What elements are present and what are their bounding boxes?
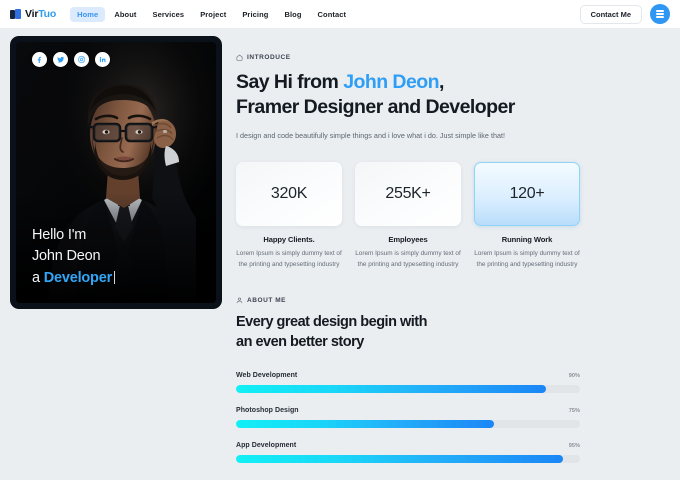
stat-value: 320K bbox=[271, 185, 307, 203]
skill-percent: 90% bbox=[569, 373, 580, 379]
skill-percent: 95% bbox=[569, 443, 580, 449]
stat-title: Employees bbox=[355, 235, 461, 244]
home-icon bbox=[236, 54, 243, 61]
skill-progress-fill bbox=[236, 420, 494, 428]
hero-role-prefix: a bbox=[32, 270, 44, 286]
about-eyebrow-label: ABOUT ME bbox=[247, 297, 286, 304]
skill-label: Photoshop Design bbox=[236, 407, 299, 414]
stat-value: 255K+ bbox=[385, 185, 430, 203]
stat-description: Lorem Ipsum is simply dummy text of the … bbox=[474, 249, 580, 270]
facebook-icon[interactable] bbox=[32, 52, 47, 67]
skill-label: App Development bbox=[236, 442, 296, 449]
stat-value-box: 120+ bbox=[474, 162, 580, 226]
skill-label: Web Development bbox=[236, 372, 297, 379]
headline-pre: Say Hi from bbox=[236, 71, 343, 93]
about-section: ABOUT ME Every great design begin withan… bbox=[236, 297, 580, 352]
brand-name-primary: Vir bbox=[25, 8, 38, 20]
hero-greeting: Hello I'm bbox=[32, 225, 115, 246]
intro-subcopy: I design and code beautifully simple thi… bbox=[236, 131, 580, 141]
about-title: Every great design begin withan even bet… bbox=[236, 313, 580, 352]
nav-link-contact[interactable]: Contact bbox=[311, 7, 354, 22]
headline-post: , bbox=[439, 71, 444, 93]
skill-progress-fill bbox=[236, 455, 563, 463]
stat-description: Lorem Ipsum is simply dummy text of the … bbox=[236, 249, 342, 270]
stat-title: Happy Clients. bbox=[236, 235, 342, 244]
linkedin-icon[interactable] bbox=[95, 52, 110, 67]
main-content-column: INTRODUCE Say Hi from John Deon,Framer D… bbox=[236, 36, 670, 480]
nav-actions: Contact Me bbox=[580, 4, 670, 24]
twitter-icon[interactable] bbox=[53, 52, 68, 67]
nav-link-about[interactable]: About bbox=[107, 7, 143, 22]
about-title-line1: Every great design begin with bbox=[236, 314, 427, 330]
stats-row: 320K Happy Clients. Lorem Ipsum is simpl… bbox=[236, 162, 580, 270]
page-title: Say Hi from John Deon,Framer Designer an… bbox=[236, 70, 580, 120]
about-title-line2: an even better story bbox=[236, 334, 364, 350]
hero-profile-card: Hello I'm John Deon a Developer bbox=[10, 36, 222, 309]
hero-caption: Hello I'm John Deon a Developer bbox=[32, 225, 115, 289]
skill-header: Photoshop Design 75% bbox=[236, 407, 580, 414]
stat-card-running-work[interactable]: 120+ Running Work Lorem Ipsum is simply … bbox=[474, 162, 580, 270]
stat-value-box: 255K+ bbox=[355, 162, 461, 226]
skill-percent: 75% bbox=[569, 408, 580, 414]
skill-progress-fill bbox=[236, 385, 546, 393]
nav-link-home[interactable]: Home bbox=[70, 7, 105, 22]
skill-header: App Development 95% bbox=[236, 442, 580, 449]
top-navigation-bar: VirTuo Home About Services Project Prici… bbox=[0, 0, 680, 28]
user-icon bbox=[236, 297, 243, 304]
skill-progress-track bbox=[236, 455, 580, 463]
nav-link-pricing[interactable]: Pricing bbox=[235, 7, 275, 22]
skill-progress-track bbox=[236, 420, 580, 428]
introduce-eyebrow-label: INTRODUCE bbox=[247, 54, 291, 61]
about-eyebrow: ABOUT ME bbox=[236, 297, 580, 304]
brand-name-accent: Tuo bbox=[38, 8, 56, 20]
stat-title: Running Work bbox=[474, 235, 580, 244]
primary-nav-links: Home About Services Project Pricing Blog… bbox=[70, 7, 353, 22]
social-links bbox=[32, 52, 110, 67]
skill-progress-track bbox=[236, 385, 580, 393]
skill-row: App Development 95% bbox=[236, 442, 580, 463]
nav-link-blog[interactable]: Blog bbox=[277, 7, 308, 22]
headline-highlight: John Deon bbox=[343, 71, 439, 93]
page-content: Hello I'm John Deon a Developer INTRODUC… bbox=[0, 28, 680, 480]
hero-name: John Deon bbox=[32, 246, 115, 267]
skill-header: Web Development 90% bbox=[236, 372, 580, 379]
nav-link-services[interactable]: Services bbox=[146, 7, 192, 22]
brand-logo[interactable]: VirTuo bbox=[10, 8, 56, 20]
stat-description: Lorem Ipsum is simply dummy text of the … bbox=[355, 249, 461, 270]
hero-role: Developer bbox=[44, 270, 112, 286]
stat-value-box: 320K bbox=[236, 162, 342, 226]
logo-mark-icon bbox=[10, 9, 21, 20]
skill-row: Web Development 90% bbox=[236, 372, 580, 393]
introduce-eyebrow: INTRODUCE bbox=[236, 54, 580, 61]
headline-line2: Framer Designer and Developer bbox=[236, 96, 515, 118]
skill-row: Photoshop Design 75% bbox=[236, 407, 580, 428]
hero-role-line: a Developer bbox=[32, 268, 115, 289]
brand-name: VirTuo bbox=[25, 8, 56, 20]
stat-card-employees[interactable]: 255K+ Employees Lorem Ipsum is simply du… bbox=[355, 162, 461, 270]
instagram-icon[interactable] bbox=[74, 52, 89, 67]
nav-link-project[interactable]: Project bbox=[193, 7, 233, 22]
stat-value: 120+ bbox=[510, 185, 545, 203]
contact-me-button[interactable]: Contact Me bbox=[580, 5, 642, 24]
hamburger-menu-icon[interactable] bbox=[650, 4, 670, 24]
skill-bars-chart: Web Development 90% Photoshop Design 75% bbox=[236, 372, 580, 463]
typing-caret bbox=[114, 271, 115, 284]
stat-card-happy-clients[interactable]: 320K Happy Clients. Lorem Ipsum is simpl… bbox=[236, 162, 342, 270]
